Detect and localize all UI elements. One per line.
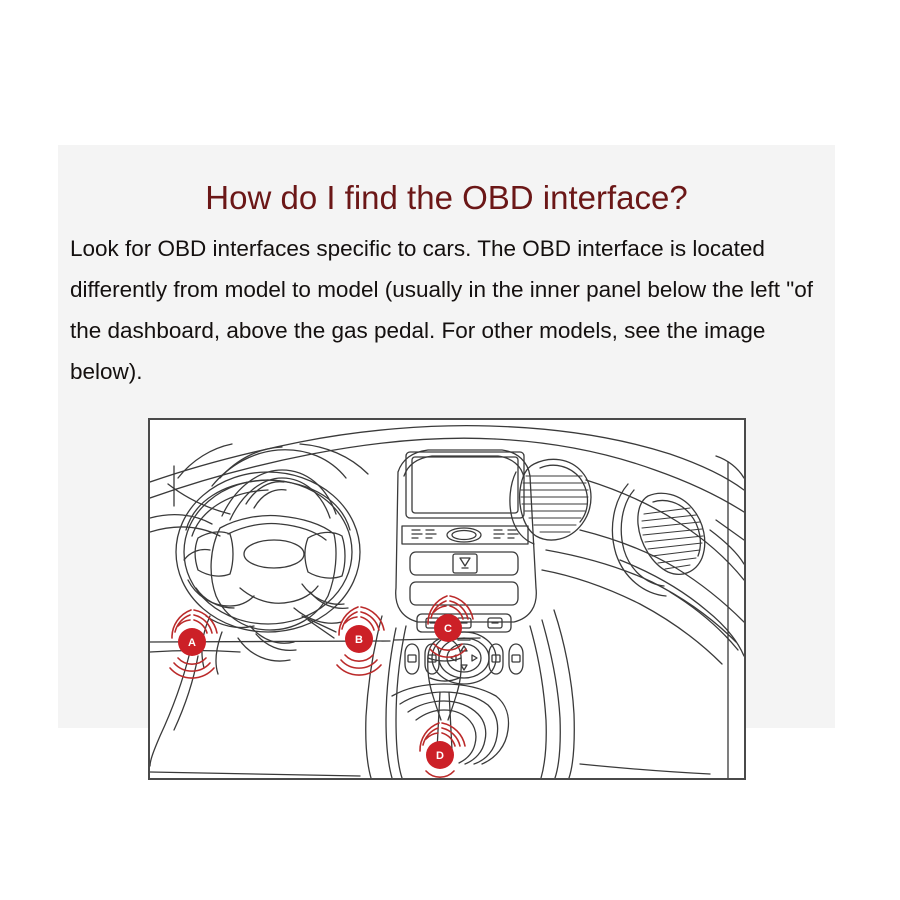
marker-c-label: C <box>444 623 452 635</box>
marker-d[interactable]: D <box>420 723 465 777</box>
marker-d-label: D <box>436 750 444 762</box>
marker-a-label: A <box>188 637 196 649</box>
page-title: How do I find the OBD interface? <box>58 178 835 218</box>
figure-frame: A B <box>148 418 746 780</box>
marker-a[interactable]: A <box>170 610 217 678</box>
marker-group: A B <box>170 596 473 777</box>
body-paragraph: Look for OBD interfaces specific to cars… <box>70 228 830 392</box>
marker-b-label: B <box>355 634 363 646</box>
page-root: How do I find the OBD interface? Look fo… <box>0 0 900 900</box>
dashboard-illustration: A B <box>150 420 744 778</box>
